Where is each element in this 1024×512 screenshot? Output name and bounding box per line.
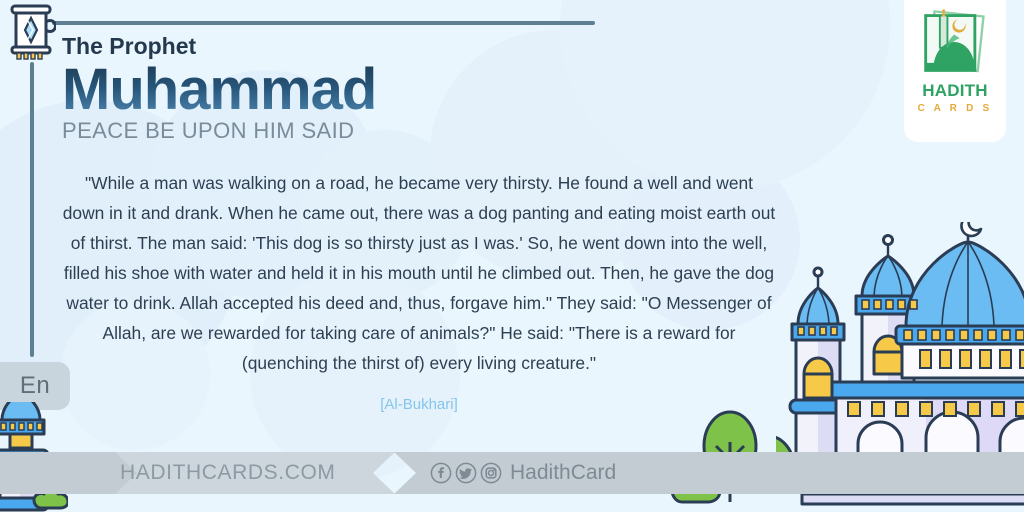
- logo-word-hadith: HADITH: [922, 82, 987, 99]
- language-badge-label: En: [20, 372, 50, 400]
- mosque-photo-icon: [918, 8, 992, 78]
- lantern-icon: [8, 4, 56, 62]
- subtitle-pbuh: PEACE BE UPON HIM SAID: [62, 119, 622, 143]
- page-title: Muhammad: [62, 61, 376, 119]
- vertical-divider: [30, 62, 34, 357]
- twitter-icon[interactable]: [455, 462, 477, 484]
- instagram-icon[interactable]: [480, 462, 502, 484]
- hadith-card: The Prophet Muhammad PEACE BE UPON HIM S…: [0, 0, 1024, 512]
- hadithcards-logo[interactable]: HADITH C A R D S: [904, 0, 1006, 142]
- logo-word-cards: C A R D S: [918, 104, 993, 114]
- title-block: The Prophet Muhammad PEACE BE UPON HIM S…: [62, 34, 622, 143]
- footer-social-group: HadithCard: [430, 455, 616, 491]
- footer-website-label: HADITHCARDS.COM: [120, 461, 336, 485]
- hadith-text: "While a man was walking on a road, he b…: [62, 168, 776, 378]
- horizontal-divider: [52, 21, 595, 25]
- facebook-icon[interactable]: [430, 462, 452, 484]
- footer-social-handle: HadithCard: [510, 461, 616, 485]
- footer-website[interactable]: HADITHCARDS.COM: [120, 455, 336, 491]
- eyebrow-the-prophet: The Prophet: [62, 34, 622, 59]
